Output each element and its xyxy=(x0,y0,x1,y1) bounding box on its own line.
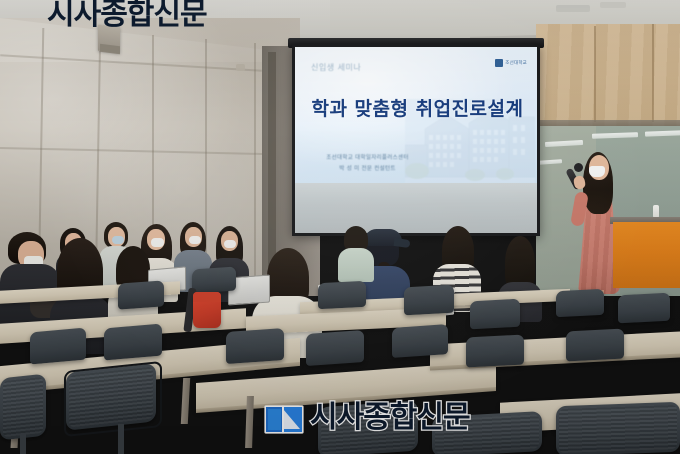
face-mask-icon xyxy=(224,240,236,248)
chair-post xyxy=(20,434,26,454)
projector-screen: 신입생 세미나 조선대학교 학과 맞춤형 취업진로설계 조선대학교 대학일자리플… xyxy=(295,47,537,233)
desk-leg xyxy=(245,396,254,448)
microphone-head-icon xyxy=(574,163,583,172)
screen-blank-lower-area xyxy=(295,183,537,233)
chair xyxy=(404,285,454,316)
chair-foreground xyxy=(0,374,46,441)
wood-panel-seam xyxy=(594,26,596,122)
chair xyxy=(392,324,448,358)
chair xyxy=(226,328,284,364)
chair xyxy=(30,328,86,365)
slide-kicker-text: 신입생 세미나 xyxy=(311,62,361,73)
chair xyxy=(192,266,236,293)
slide-subtitle-presenter: 박 성 미 전문 컨설턴트 xyxy=(295,164,440,172)
podium xyxy=(613,222,680,288)
right-wall-upper xyxy=(536,24,680,130)
face-mask-icon xyxy=(589,166,605,177)
chair-foreground xyxy=(556,402,680,454)
chair xyxy=(118,280,164,309)
chair xyxy=(306,330,364,366)
newspaper-book-logo-icon xyxy=(263,398,305,438)
chair-mesh xyxy=(559,405,677,453)
watermark-text: 시사종합신문 xyxy=(310,403,470,433)
desk-leg xyxy=(181,378,190,424)
slide-title: 학과 맞춤형 취업진로설계 xyxy=(310,94,525,121)
chair xyxy=(104,323,162,360)
watermark-text-overlay: 시사종합신문 xyxy=(47,0,207,30)
slide-logo-text: 조선대학교 xyxy=(505,60,527,66)
slide-subtitle-organization: 조선대학교 대학일자리플러스센터 xyxy=(295,153,440,161)
face-mask-icon xyxy=(151,238,164,247)
chair xyxy=(566,328,624,361)
face-mask-icon xyxy=(189,236,201,244)
chair-post xyxy=(118,424,124,454)
chair-mesh xyxy=(3,377,43,437)
chair xyxy=(618,293,670,324)
presentation-slide: 신입생 세미나 조선대학교 학과 맞춤형 취업진로설계 조선대학교 대학일자리플… xyxy=(295,47,537,183)
bag-flap xyxy=(193,292,221,302)
face-mask-icon xyxy=(112,236,124,244)
chair xyxy=(556,289,604,318)
ceiling-vent-icon xyxy=(556,5,590,12)
logo-mark-icon xyxy=(495,59,503,67)
chair xyxy=(466,334,524,367)
ceiling-vent-icon xyxy=(600,2,626,8)
student-body xyxy=(338,248,374,282)
watermark: 시사종합신문 xyxy=(263,398,470,438)
wall-fixture-icon xyxy=(236,64,245,71)
chair-frame xyxy=(64,361,162,437)
wood-panel-seam xyxy=(652,24,654,122)
chair xyxy=(470,299,520,330)
photo-scene: 신입생 세미나 조선대학교 학과 맞춤형 취업진로설계 조선대학교 대학일자리플… xyxy=(0,0,680,454)
chair xyxy=(318,281,366,310)
wall-panel-seam xyxy=(254,43,256,289)
slide-university-logo: 조선대학교 xyxy=(495,59,527,67)
